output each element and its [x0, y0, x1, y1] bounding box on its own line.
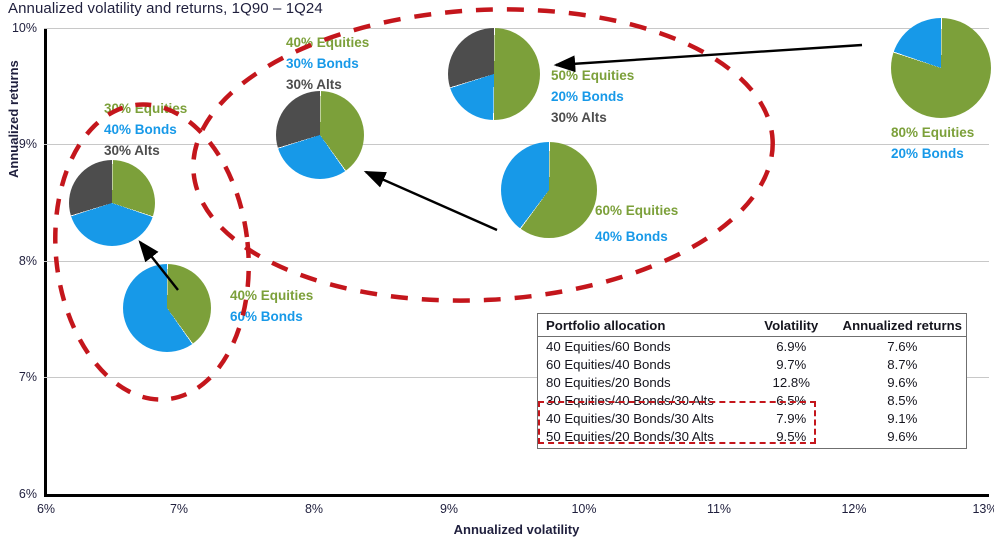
callout-80eq-20bd: 80% Equities 20% Bonds — [891, 123, 974, 165]
cell-allocation: 50 Equities/20 Bonds/30 Alts — [538, 427, 744, 445]
cell-returns: 9.6% — [835, 427, 966, 445]
cell-volatility: 9.5% — [744, 427, 835, 445]
x-tick-label-13: 13% — [972, 502, 994, 516]
table-row[interactable]: 60 Equities/40 Bonds 9.7% 8.7% — [538, 355, 966, 373]
page-title: Annualized volatility and returns, 1Q90 … — [8, 0, 323, 17]
y-axis-title: Annualized returns — [6, 60, 21, 178]
cell-allocation: 40 Equities/60 Bonds — [538, 337, 744, 356]
table-row[interactable]: 80 Equities/20 Bonds 12.8% 9.6% — [538, 373, 966, 391]
column-header-allocation: Portfolio allocation — [538, 316, 744, 337]
y-tick-label-9: 9% — [19, 137, 37, 151]
cell-volatility: 7.9% — [744, 409, 835, 427]
cell-returns: 9.1% — [835, 409, 966, 427]
y-tick-label-8: 8% — [19, 254, 37, 268]
x-tick-label-10: 10% — [571, 502, 596, 516]
y-tick-label-10: 10% — [12, 21, 37, 35]
callout-50eq-20bd-30alt: 50% Equities 20% Bonds 30% Alts — [551, 66, 634, 129]
pie-marker-40eq-60bd[interactable] — [123, 264, 211, 352]
cell-volatility: 9.7% — [744, 355, 835, 373]
gridline-8pct — [44, 261, 989, 262]
table-row[interactable]: 40 Equities/60 Bonds 6.9% 7.6% — [538, 337, 966, 356]
cell-returns: 8.5% — [835, 391, 966, 409]
cell-allocation: 30 Equities/40 Bonds/30 Alts — [538, 391, 744, 409]
column-header-returns: Annualized returns — [835, 316, 966, 337]
callout-60eq-40bd: 60% Equities 40% Bonds — [595, 198, 678, 251]
pie-marker-30eq-40bd-30alt[interactable] — [69, 160, 155, 246]
table-row-highlighted[interactable]: 40 Equities/30 Bonds/30 Alts 7.9% 9.1% — [538, 409, 966, 427]
pie-marker-40eq-30bd-30alt[interactable] — [276, 91, 364, 179]
cell-volatility: 6.5% — [744, 391, 835, 409]
pie-marker-50eq-20bd-30alt[interactable] — [448, 28, 540, 120]
x-axis-title: Annualized volatility — [44, 522, 989, 537]
x-axis-line — [44, 494, 989, 497]
cell-allocation: 40 Equities/30 Bonds/30 Alts — [538, 409, 744, 427]
cell-volatility: 12.8% — [744, 373, 835, 391]
y-tick-label-6: 6% — [19, 487, 37, 501]
pie-marker-60eq-40bd[interactable] — [501, 142, 597, 238]
portfolio-allocation-table: Portfolio allocation Volatility Annualiz… — [537, 313, 967, 449]
x-tick-label-8: 8% — [305, 502, 323, 516]
cell-returns: 9.6% — [835, 373, 966, 391]
callout-30eq-40bd-30alt: 30% Equities 40% Bonds 30% Alts — [104, 99, 187, 162]
x-tick-label-9: 9% — [440, 502, 458, 516]
callout-40eq-60bd: 40% Equities 60% Bonds — [230, 286, 313, 328]
column-header-volatility: Volatility — [744, 316, 835, 337]
cell-volatility: 6.9% — [744, 337, 835, 356]
gridline-10pct — [44, 28, 989, 29]
x-tick-label-7: 7% — [170, 502, 188, 516]
callout-40eq-30bd-30alt: 40% Equities 30% Bonds 30% Alts — [286, 33, 369, 96]
table-row-highlighted[interactable]: 30 Equities/40 Bonds/30 Alts 6.5% 8.5% — [538, 391, 966, 409]
pie-marker-80eq-20bd[interactable] — [891, 18, 991, 118]
chart-root: Annualized volatility and returns, 1Q90 … — [0, 0, 994, 537]
x-tick-label-11: 11% — [707, 502, 731, 516]
cell-returns: 7.6% — [835, 337, 966, 356]
cell-returns: 8.7% — [835, 355, 966, 373]
cell-allocation: 60 Equities/40 Bonds — [538, 355, 744, 373]
table-header-row: Portfolio allocation Volatility Annualiz… — [538, 316, 966, 337]
y-tick-label-7: 7% — [19, 370, 37, 384]
x-tick-label-6: 6% — [37, 502, 55, 516]
table-row[interactable]: 50 Equities/20 Bonds/30 Alts 9.5% 9.6% — [538, 427, 966, 445]
cell-allocation: 80 Equities/20 Bonds — [538, 373, 744, 391]
x-tick-label-12: 12% — [841, 502, 866, 516]
